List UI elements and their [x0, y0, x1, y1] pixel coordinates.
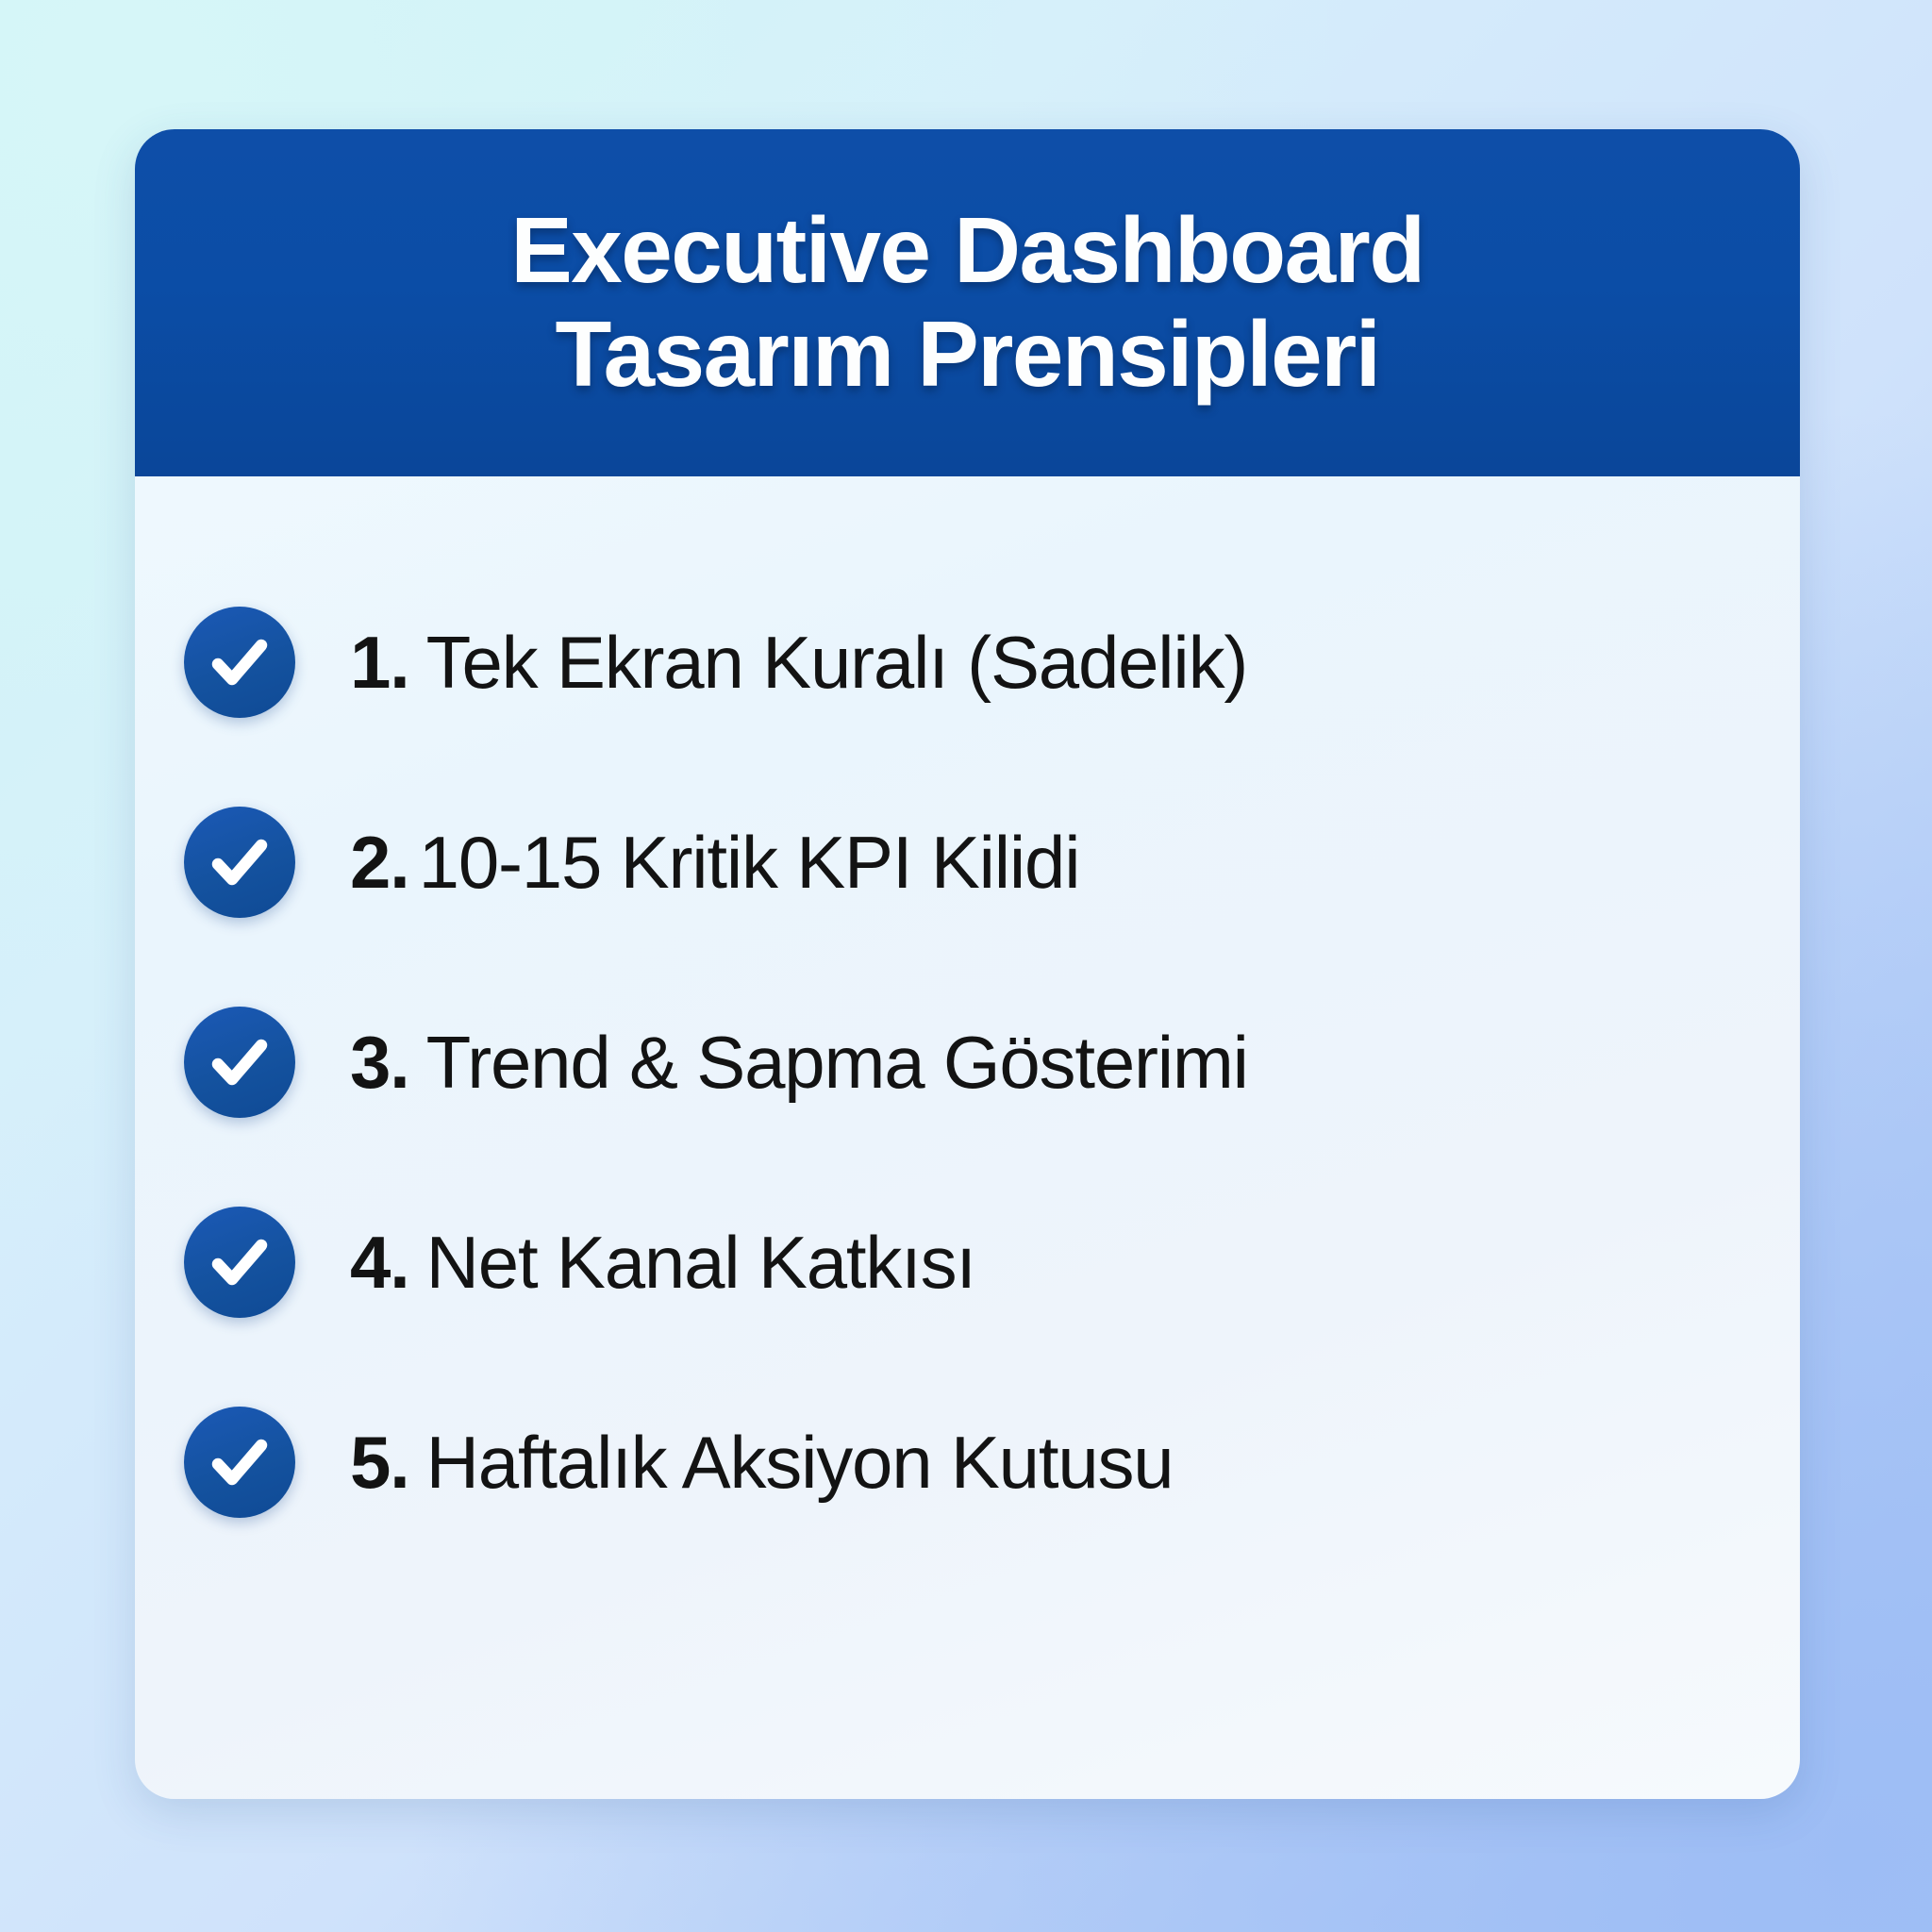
list-item: 1. Tek Ekran Kuralı (Sadelik)	[184, 575, 1800, 750]
check-icon	[184, 1207, 295, 1318]
card-header: Executive Dashboard Tasarım Prensipleri	[135, 129, 1800, 476]
list-item-number: 4.	[350, 1225, 409, 1299]
check-icon	[184, 1007, 295, 1118]
list-item-number: 2.	[350, 825, 409, 899]
list-item-number: 5.	[350, 1425, 409, 1499]
list-item-label: 10-15 Kritik KPI Kilidi	[419, 825, 1080, 899]
list-item-number: 3.	[350, 1025, 409, 1099]
list-item-number: 1.	[350, 625, 409, 699]
list-item-text: 2. 10-15 Kritik KPI Kilidi	[350, 825, 1079, 899]
page-title-line-2: Tasarım Prensipleri	[556, 303, 1380, 407]
check-icon	[184, 807, 295, 918]
list-item-label: Haftalık Aksiyon Kutusu	[426, 1425, 1174, 1499]
list-item-text: 3. Trend & Sapma Gösterimi	[350, 1025, 1248, 1099]
list-item: 5. Haftalık Aksiyon Kutusu	[184, 1374, 1800, 1550]
check-icon	[184, 1407, 295, 1518]
list-item: 4. Net Kanal Katkısı	[184, 1174, 1800, 1350]
principles-list: 1. Tek Ekran Kuralı (Sadelik) 2. 10-15 K…	[135, 476, 1800, 1550]
list-item-label: Trend & Sapma Gösterimi	[426, 1025, 1248, 1099]
page-title-line-1: Executive Dashboard	[510, 199, 1424, 303]
check-icon	[184, 607, 295, 718]
list-item-text: 5. Haftalık Aksiyon Kutusu	[350, 1425, 1173, 1499]
principles-card: Executive Dashboard Tasarım Prensipleri …	[135, 129, 1800, 1799]
list-item: 3. Trend & Sapma Gösterimi	[184, 974, 1800, 1150]
list-item-label: Tek Ekran Kuralı (Sadelik)	[426, 625, 1248, 699]
list-item-label: Net Kanal Katkısı	[426, 1225, 975, 1299]
list-item-text: 4. Net Kanal Katkısı	[350, 1225, 975, 1299]
list-item-text: 1. Tek Ekran Kuralı (Sadelik)	[350, 625, 1247, 699]
list-item: 2. 10-15 Kritik KPI Kilidi	[184, 774, 1800, 950]
